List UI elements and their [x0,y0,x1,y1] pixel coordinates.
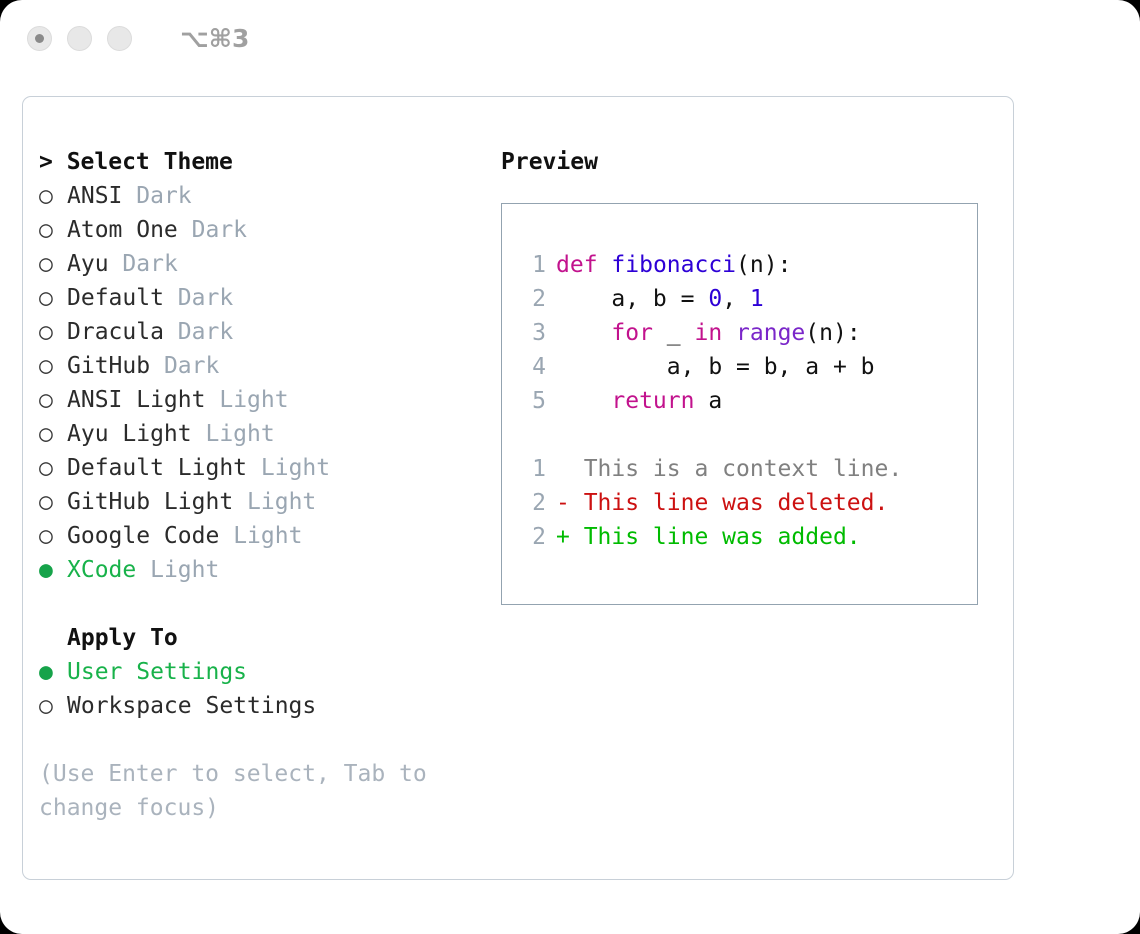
line-number: 1 [520,248,546,282]
code-diff-gap [520,418,977,452]
theme-selector-panel: > Select Theme ○ANSI Dark○Atom One Dark○… [22,96,1014,880]
code-token-kw: for [611,320,653,346]
code-token-num: 1 [750,286,764,312]
diff-line: 2+ This line was added. [520,520,977,554]
theme-variant-tag: Dark [178,315,233,349]
code-line: 3 for _ in range(n): [520,316,977,350]
window-dot-third[interactable] [107,26,132,51]
theme-variant-tag: Light [219,383,288,417]
preview-code-box: 1def fibonacci(n):2 a, b = 0, 13 for _ i… [501,203,978,605]
radio-unselected-icon: ○ [39,519,67,553]
theme-variant-tag: Light [247,485,316,519]
theme-option-label: Default Light [67,451,247,485]
code-token-plain [598,252,612,278]
code-token-plain: a, b = b, a + b [556,354,875,380]
select-theme-heading: > Select Theme [39,145,499,179]
preview-column: Preview 1def fibonacci(n):2 a, b = 0, 13… [501,145,1001,605]
radio-unselected-icon: ○ [39,451,67,485]
theme-option-row[interactable]: ○GitHub Light Light [39,485,499,519]
radio-unselected-icon: ○ [39,485,67,519]
code-token-builtin: range [736,320,805,346]
theme-option-label: ANSI [67,179,122,213]
radio-unselected-icon: ○ [39,179,67,213]
theme-option-row[interactable]: ○GitHub Dark [39,349,499,383]
label-tag-separator [192,417,206,451]
section-spacer [39,587,499,621]
line-number: 2 [520,520,546,554]
theme-variant-tag: Dark [192,213,247,247]
window-dot-second[interactable] [67,26,92,51]
apply-to-option-label: User Settings [67,655,247,689]
theme-option-label: Google Code [67,519,219,553]
theme-option-label: ANSI Light [67,383,205,417]
diff-text-del: - This line was deleted. [556,490,888,516]
radio-unselected-icon: ○ [39,417,67,451]
theme-option-label: GitHub [67,349,150,383]
theme-option-label: GitHub Light [67,485,233,519]
code-token-plain: (n): [736,252,791,278]
line-number: 4 [520,350,546,384]
radio-unselected-icon: ○ [39,213,67,247]
theme-option-row[interactable]: ○ANSI Light Light [39,383,499,417]
label-tag-separator [233,485,247,519]
label-tag-separator [109,247,123,281]
code-token-kw: in [694,320,722,346]
theme-option-row[interactable]: ○Default Light Light [39,451,499,485]
theme-variant-tag: Light [150,553,219,587]
radio-unselected-icon: ○ [39,247,67,281]
code-token-plain: (n): [805,320,860,346]
theme-variant-tag: Light [205,417,274,451]
code-token-plain: , [722,286,750,312]
theme-option-row[interactable]: ○Google Code Light [39,519,499,553]
terminal-window: ⌥⌘3 > Select Theme ○ANSI Dark○Atom One D… [0,0,1140,934]
theme-variant-tag: Dark [164,349,219,383]
keyboard-hint-text: (Use Enter to select, Tab to change focu… [39,757,459,825]
preview-heading: Preview [501,145,1001,179]
theme-option-label: Ayu Light [67,417,192,451]
theme-options-list: ○ANSI Dark○Atom One Dark○Ayu Dark○Defaul… [39,179,499,587]
diff-text-ctx: This is a context line. [556,456,902,482]
code-token-fn: fibonacci [611,252,736,278]
theme-option-label: Dracula [67,315,164,349]
code-token-num: 0 [708,286,722,312]
theme-option-row[interactable]: ○Ayu Light Light [39,417,499,451]
apply-to-option-row[interactable]: ○Workspace Settings [39,689,499,723]
apply-to-options-list: ●User Settings○Workspace Settings [39,655,499,723]
window-dot-active[interactable] [27,26,52,51]
apply-to-option-label: Workspace Settings [67,689,316,723]
apply-to-option-row[interactable]: ●User Settings [39,655,499,689]
label-tag-separator [136,553,150,587]
label-tag-separator [122,179,136,213]
theme-list-column: > Select Theme ○ANSI Dark○Atom One Dark○… [39,145,499,825]
code-token-plain: a, b = [556,286,708,312]
line-number: 2 [520,486,546,520]
code-token-kw: return [611,388,694,414]
theme-option-row[interactable]: ○Atom One Dark [39,213,499,247]
theme-variant-tag: Light [233,519,302,553]
line-number: 5 [520,384,546,418]
diff-sample-block: 1 This is a context line.2- This line wa… [520,452,977,554]
radio-selected-icon: ● [39,655,67,689]
theme-option-label: Default [67,281,164,315]
label-tag-separator [247,451,261,485]
theme-option-row[interactable]: ○Default Dark [39,281,499,315]
theme-option-row[interactable]: ○ANSI Dark [39,179,499,213]
code-token-plain [556,320,611,346]
theme-option-label: Ayu [67,247,109,281]
radio-unselected-icon: ○ [39,689,67,723]
theme-option-label: XCode [67,553,136,587]
window-titlebar: ⌥⌘3 [0,0,1140,76]
label-tag-separator [205,383,219,417]
label-tag-separator [219,519,233,553]
radio-unselected-icon: ○ [39,281,67,315]
diff-line: 2- This line was deleted. [520,486,977,520]
radio-unselected-icon: ○ [39,383,67,417]
code-line: 5 return a [520,384,977,418]
label-tag-separator [164,315,178,349]
radio-selected-icon: ● [39,553,67,587]
code-token-plain [722,320,736,346]
diff-line: 1 This is a context line. [520,452,977,486]
window-dot-active-inner [35,34,44,43]
code-line: 1def fibonacci(n): [520,248,977,282]
theme-variant-tag: Light [261,451,330,485]
theme-variant-tag: Dark [122,247,177,281]
line-number: 2 [520,282,546,316]
line-number: 3 [520,316,546,350]
diff-text-add: + This line was added. [556,524,861,550]
theme-variant-tag: Dark [136,179,191,213]
line-number: 1 [520,452,546,486]
theme-option-label: Atom One [67,213,178,247]
code-line: 2 a, b = 0, 1 [520,282,977,316]
theme-option-row[interactable]: ○Ayu Dark [39,247,499,281]
code-sample-block: 1def fibonacci(n):2 a, b = 0, 13 for _ i… [520,248,977,418]
code-token-kw: def [556,252,598,278]
radio-unselected-icon: ○ [39,349,67,383]
code-token-plain: a [694,388,722,414]
code-token-plain: _ [653,320,695,346]
apply-to-heading: Apply To [39,621,499,655]
theme-option-row[interactable]: ○Dracula Dark [39,315,499,349]
radio-unselected-icon: ○ [39,315,67,349]
label-tag-separator [178,213,192,247]
code-token-plain [556,388,611,414]
keyboard-shortcut-label: ⌥⌘3 [180,24,249,53]
label-tag-separator [150,349,164,383]
theme-option-row[interactable]: ●XCode Light [39,553,499,587]
code-line: 4 a, b = b, a + b [520,350,977,384]
theme-variant-tag: Dark [178,281,233,315]
label-tag-separator [164,281,178,315]
